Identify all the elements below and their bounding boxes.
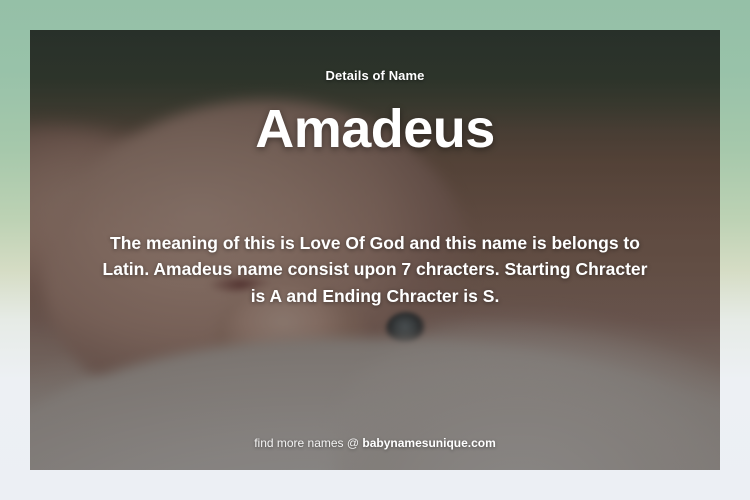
page-backdrop: Details of Name Amadeus The meaning of t…: [0, 0, 750, 500]
card-footer: find more names @ babynamesunique.com: [30, 436, 720, 450]
name-meaning-text: The meaning of this is Love Of God and t…: [95, 230, 655, 310]
footer-prefix: find more names @: [254, 436, 362, 450]
name-title: Amadeus: [255, 101, 495, 158]
name-details-card: Details of Name Amadeus The meaning of t…: [30, 30, 720, 470]
card-kicker: Details of Name: [325, 68, 424, 83]
footer-site-link[interactable]: babynamesunique.com: [362, 436, 495, 450]
card-content: Details of Name Amadeus The meaning of t…: [30, 30, 720, 470]
